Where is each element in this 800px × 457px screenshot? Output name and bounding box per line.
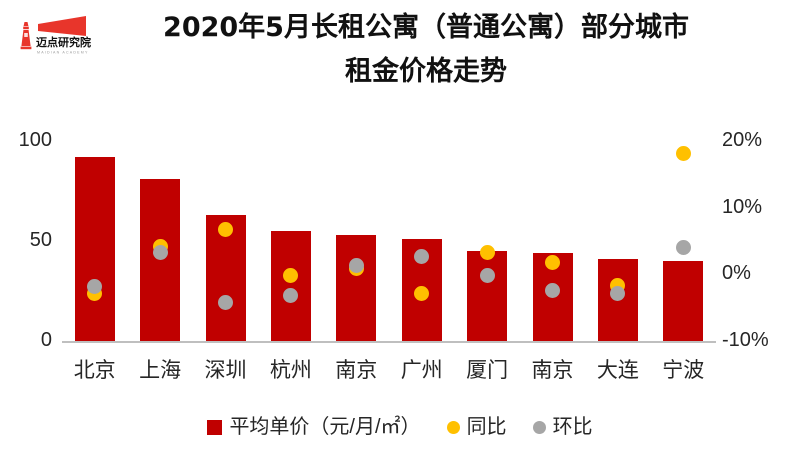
legend-label: 环比 [553, 415, 593, 439]
point-tongbi-深圳[interactable] [218, 222, 233, 237]
point-huanbi-厦门[interactable] [480, 268, 495, 283]
x-axis-tick-广州: 广州 [387, 358, 457, 384]
legend-item-0[interactable]: 平均单价（元/月/㎡） [207, 415, 420, 439]
x-axis-tick-南京: 南京 [518, 358, 588, 384]
legend-label: 同比 [467, 415, 507, 439]
legend-dot-icon [447, 421, 460, 434]
chart-plot-area: 050100 -10%0%10%20% 北京上海深圳杭州南京广州厦门南京大连宁波 [0, 0, 800, 457]
legend-label: 平均单价（元/月/㎡） [229, 415, 420, 439]
x-axis-tick-杭州: 杭州 [256, 358, 326, 384]
chart-page: 迈点研究院 MAIDIAN ACADEMY 2020年5月长租公寓（普通公寓）部… [0, 0, 800, 457]
legend-dot-icon [533, 421, 546, 434]
scatter-series-layer [0, 0, 800, 457]
legend-item-2[interactable]: 环比 [533, 415, 593, 439]
x-axis-tick-深圳: 深圳 [191, 358, 261, 384]
x-axis-tick-上海: 上海 [125, 358, 195, 384]
point-huanbi-南京[interactable] [545, 283, 560, 298]
x-axis-tick-北京: 北京 [60, 358, 130, 384]
point-huanbi-北京[interactable] [87, 279, 102, 294]
point-tongbi-厦门[interactable] [480, 245, 495, 260]
point-tongbi-南京[interactable] [545, 255, 560, 270]
point-huanbi-南京[interactable] [349, 258, 364, 273]
point-huanbi-上海[interactable] [153, 245, 168, 260]
point-huanbi-大连[interactable] [610, 286, 625, 301]
point-huanbi-广州[interactable] [414, 249, 429, 264]
x-axis-tick-宁波: 宁波 [648, 358, 718, 384]
legend-square-icon [207, 420, 222, 435]
point-huanbi-深圳[interactable] [218, 295, 233, 310]
x-axis-tick-大连: 大连 [583, 358, 653, 384]
x-axis-tick-南京: 南京 [321, 358, 391, 384]
point-tongbi-杭州[interactable] [283, 268, 298, 283]
x-axis-tick-厦门: 厦门 [452, 358, 522, 384]
point-tongbi-广州[interactable] [414, 286, 429, 301]
point-tongbi-宁波[interactable] [676, 146, 691, 161]
legend-item-1[interactable]: 同比 [447, 415, 507, 439]
point-huanbi-杭州[interactable] [283, 288, 298, 303]
chart-legend: 平均单价（元/月/㎡）同比环比 [0, 415, 800, 439]
point-huanbi-宁波[interactable] [676, 240, 691, 255]
